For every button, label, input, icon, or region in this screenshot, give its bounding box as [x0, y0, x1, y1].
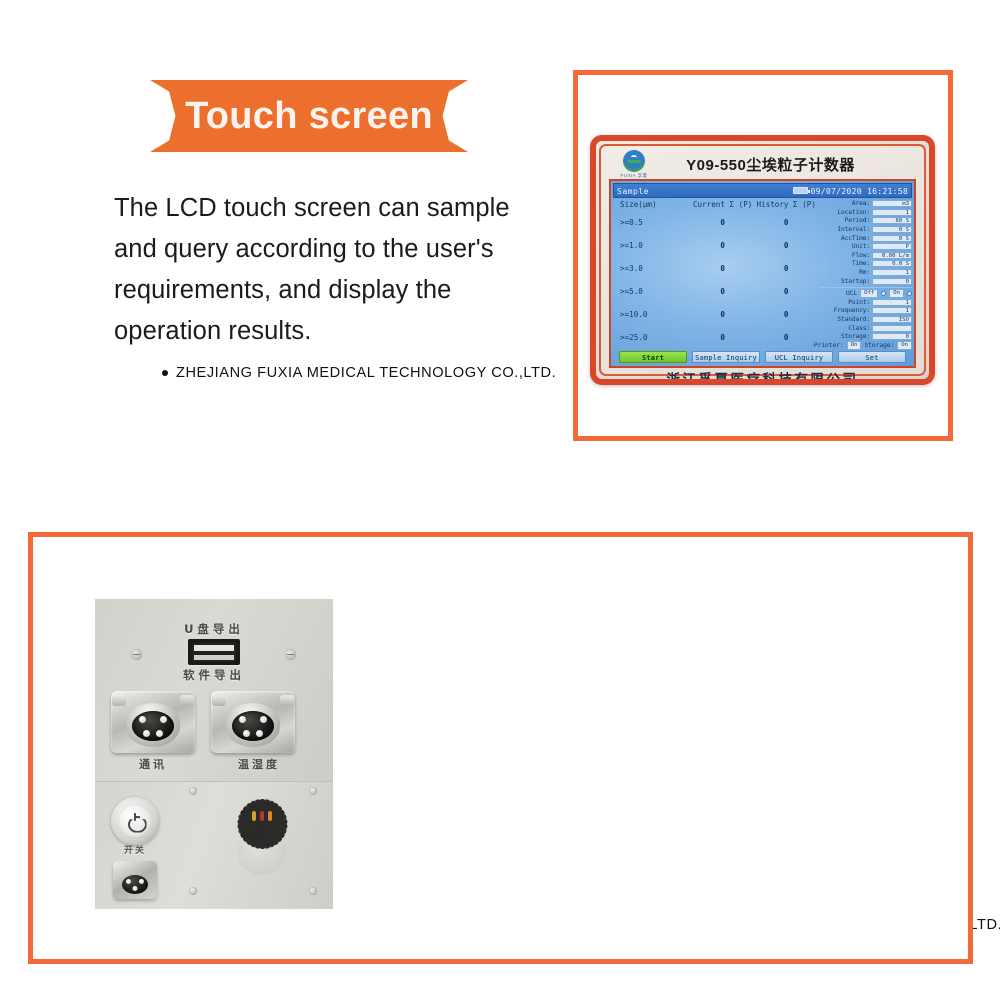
- param-value[interactable]: 1: [872, 307, 912, 314]
- screw-icon: [131, 649, 142, 660]
- table-header-row: Size(μm) Current Σ (P) History Σ (P): [613, 200, 818, 211]
- power-button-inner[interactable]: [118, 804, 152, 838]
- connector-face: [232, 711, 274, 741]
- param-row-rm: Rm: 1: [820, 269, 912, 277]
- fan-accent: [252, 811, 256, 821]
- param-label: Time:: [820, 260, 870, 267]
- table-row: >=5.0 0 0: [613, 280, 818, 303]
- param-row-interval: Interval: 0 S: [820, 226, 912, 234]
- param-label: Point:: [820, 299, 870, 306]
- cell-size: >=25.0: [613, 333, 691, 342]
- label-usb-export: U盘导出: [95, 621, 333, 637]
- param-value[interactable]: 0.00 L/m: [872, 252, 912, 259]
- fuxia-logo-icon: [623, 150, 645, 172]
- ucl-off-option[interactable]: Off: [860, 289, 878, 299]
- param-label: Period:: [820, 217, 870, 224]
- cell-size: >=1.0: [613, 241, 691, 250]
- usb-port-icon: [188, 639, 240, 665]
- power-button[interactable]: [111, 797, 159, 845]
- param-value[interactable]: 0 S: [872, 226, 912, 233]
- param-label: Startup:: [820, 278, 870, 285]
- param-label: Class:: [820, 325, 870, 332]
- cell-history: 0: [754, 310, 818, 319]
- cell-current: 0: [691, 287, 755, 296]
- connector-pin: [256, 730, 263, 737]
- connector-pin: [143, 730, 150, 737]
- cell-history: 0: [754, 333, 818, 342]
- param-value[interactable]: 0: [872, 333, 912, 340]
- table-row: >=25.0 0 0: [613, 326, 818, 349]
- param-value[interactable]: P: [872, 243, 912, 250]
- lcd-content: Size(μm) Current Σ (P) History Σ (P) >=0…: [613, 198, 912, 349]
- device-title: Y09-550尘埃粒子计数器: [661, 154, 918, 175]
- communication-connector: [111, 691, 195, 753]
- status-datetime-group: 09/07/2020 16:21:58: [793, 186, 908, 196]
- param-label: Frequency:: [820, 307, 870, 314]
- param-label: Location:: [820, 209, 870, 216]
- device-photo-lcd: FUXIA 孚夏 Y09-550尘埃粒子计数器 Sample 09/07/202…: [590, 135, 935, 385]
- storage-label: Storage:: [864, 342, 894, 349]
- connector-pin: [160, 716, 167, 723]
- param-row-period: Period: 60 S: [820, 217, 912, 225]
- power-icon: [128, 814, 143, 829]
- lcd-status-bar: Sample 09/07/2020 16:21:58: [613, 183, 912, 198]
- connector-pin: [139, 879, 144, 884]
- screw-icon: [189, 887, 197, 895]
- cell-size: >=0.5: [613, 218, 691, 227]
- column-header-size: Size(μm): [613, 200, 691, 209]
- image-frame-interface: U盘导出 软件导出: [28, 532, 973, 964]
- param-value[interactable]: ISO: [872, 316, 912, 323]
- parameter-group-ucl: UCL Off On Point: 1: [820, 290, 912, 349]
- param-label: Standard:: [820, 316, 870, 323]
- param-value[interactable]: 60 S: [872, 217, 912, 224]
- connector-pin: [156, 730, 163, 737]
- cell-size: >=3.0: [613, 264, 691, 273]
- table-row: >=3.0 0 0: [613, 257, 818, 280]
- param-label: Storage:: [820, 333, 870, 340]
- connector-pin: [260, 716, 267, 723]
- param-row-printer-storage: Printer: On Storage: On: [820, 342, 912, 350]
- product-feature-page: Touch screen The LCD touch screen can sa…: [0, 0, 1000, 1000]
- fan-vent-grille: [207, 795, 317, 905]
- param-row-unit: Unit: P: [820, 243, 912, 251]
- connector-pin: [126, 879, 131, 884]
- lcd-button-bar: Start Sample Inquiry UCL Inquiry Set: [613, 349, 912, 364]
- cell-size: >=5.0: [613, 287, 691, 296]
- cell-history: 0: [754, 218, 818, 227]
- status-mode-label: Sample: [617, 186, 793, 196]
- ucl-off-radio[interactable]: [881, 291, 886, 296]
- ribbon-banner-touch-screen: Touch screen: [150, 80, 468, 152]
- ucl-on-radio[interactable]: [907, 291, 912, 296]
- bullet-icon: [162, 370, 168, 376]
- set-button[interactable]: Set: [838, 351, 906, 363]
- cell-history: 0: [754, 264, 818, 273]
- connector-pin: [139, 716, 146, 723]
- param-value[interactable]: 0 S: [872, 235, 912, 242]
- param-label: Rm:: [820, 269, 870, 276]
- table-row: >=0.5 0 0: [613, 211, 818, 234]
- temp-humidity-connector: [211, 691, 295, 753]
- cell-current: 0: [691, 218, 755, 227]
- brand-footer-top: ZHEJIANG FUXIA MEDICAL TECHNOLOGY CO.,LT…: [162, 365, 556, 381]
- param-value[interactable]: 1: [872, 269, 912, 276]
- connector-face: [122, 875, 148, 894]
- status-datetime: 09/07/2020 16:21:58: [811, 186, 908, 196]
- connector-pin: [239, 716, 246, 723]
- param-row-point: Point: 1: [820, 299, 912, 307]
- particle-count-table: Size(μm) Current Σ (P) History Σ (P) >=0…: [613, 200, 818, 349]
- param-row-standard: Standard: ISO: [820, 316, 912, 324]
- screw-icon: [309, 887, 317, 895]
- label-power-switch: 开关: [107, 843, 163, 856]
- param-label: AccTime:: [820, 235, 870, 242]
- cell-current: 0: [691, 310, 755, 319]
- param-value[interactable]: [872, 325, 912, 332]
- company-name-cn: 浙江孚夏医疗科技有限公司: [667, 368, 859, 385]
- cell-history: 0: [754, 287, 818, 296]
- param-label: Flow:: [820, 252, 870, 259]
- ribbon-label-touch-screen: Touch screen: [185, 95, 433, 138]
- column-header-history: History Σ (P): [754, 200, 818, 209]
- ucl-label: UCL: [846, 290, 857, 297]
- label-temp-humidity: 温湿度: [217, 756, 301, 772]
- parameter-divider: [820, 287, 912, 288]
- param-value[interactable]: 0.0 S: [872, 260, 912, 267]
- param-value[interactable]: m3: [872, 200, 912, 207]
- table-row: >=1.0 0 0: [613, 234, 818, 257]
- brand-text-top: ZHEJIANG FUXIA MEDICAL TECHNOLOGY CO.,LT…: [176, 365, 556, 381]
- param-label: Unit:: [820, 243, 870, 250]
- device-header: FUXIA 孚夏 Y09-550尘埃粒子计数器: [607, 150, 918, 179]
- connector-pin: [243, 730, 250, 737]
- cell-current: 0: [691, 264, 755, 273]
- battery-icon: [793, 187, 808, 194]
- connector-tab: [112, 695, 126, 706]
- column-header-current: Current Σ (P): [691, 200, 755, 209]
- cell-size: >=10.0: [613, 310, 691, 319]
- param-label: Area:: [820, 200, 870, 207]
- connector-tab: [280, 695, 294, 706]
- screw-icon: [189, 787, 197, 795]
- param-row-storage: Storage: 0: [820, 333, 912, 341]
- brand-logo: FUXIA 孚夏: [607, 150, 661, 179]
- ucl-inquiry-button[interactable]: UCL Inquiry: [765, 351, 833, 363]
- param-row-location: Location: 1: [820, 209, 912, 217]
- param-row-class: Class:: [820, 324, 912, 332]
- screw-icon: [285, 649, 296, 660]
- rear-panel-photo: U盘导出 软件导出: [95, 599, 333, 909]
- ucl-on-option[interactable]: On: [889, 289, 904, 299]
- parameter-panel: Area: m3 Location: 1 Period: 60 S: [820, 200, 912, 349]
- device-bezel: FUXIA 孚夏 Y09-550尘埃粒子计数器 Sample 09/07/202…: [599, 144, 926, 376]
- table-row: >=10.0 0 0: [613, 303, 818, 326]
- fan-accent: [268, 811, 272, 821]
- connector-pin: [133, 886, 138, 891]
- param-value[interactable]: 1: [872, 209, 912, 216]
- description-touch-screen: The LCD touch screen can sample and quer…: [114, 188, 534, 352]
- start-button[interactable]: Start: [619, 351, 687, 363]
- param-row-area: Area: m3: [820, 200, 912, 208]
- param-row-time: Time: 0.0 S: [820, 260, 912, 268]
- param-row-startup: Startup: 0: [820, 277, 912, 285]
- param-value[interactable]: 1: [872, 299, 912, 306]
- label-software-export: 软件导出: [95, 667, 333, 683]
- connector-face: [132, 711, 174, 741]
- param-row-flow: Flow: 0.00 L/m: [820, 252, 912, 260]
- label-communication: 通讯: [117, 756, 189, 772]
- cell-current: 0: [691, 333, 755, 342]
- param-label: Interval:: [820, 226, 870, 233]
- sample-inquiry-button[interactable]: Sample Inquiry: [692, 351, 760, 363]
- param-value[interactable]: 0: [872, 278, 912, 285]
- connector-tab: [180, 695, 194, 706]
- cell-history: 0: [754, 241, 818, 250]
- param-row-frequency: Frequency: 1: [820, 307, 912, 315]
- param-row-acctime: AccTime: 0 S: [820, 234, 912, 242]
- fan-accent: [260, 811, 264, 821]
- screw-icon: [309, 787, 317, 795]
- connector-tab: [212, 695, 226, 706]
- device-footer: 浙江孚夏医疗科技有限公司 Zhejiang FUXIA Medical Tech…: [607, 369, 918, 385]
- param-row-ucl: UCL Off On: [820, 290, 912, 298]
- parameter-group-measurement: Area: m3 Location: 1 Period: 60 S: [820, 200, 912, 285]
- cell-current: 0: [691, 241, 755, 250]
- power-inlet-connector: [113, 861, 157, 899]
- printer-label: Printer:: [814, 342, 844, 349]
- image-frame-touch-screen: FUXIA 孚夏 Y09-550尘埃粒子计数器 Sample 09/07/202…: [573, 70, 953, 441]
- lcd-screen: Sample 09/07/2020 16:21:58 Size(μm) Curr…: [609, 179, 916, 368]
